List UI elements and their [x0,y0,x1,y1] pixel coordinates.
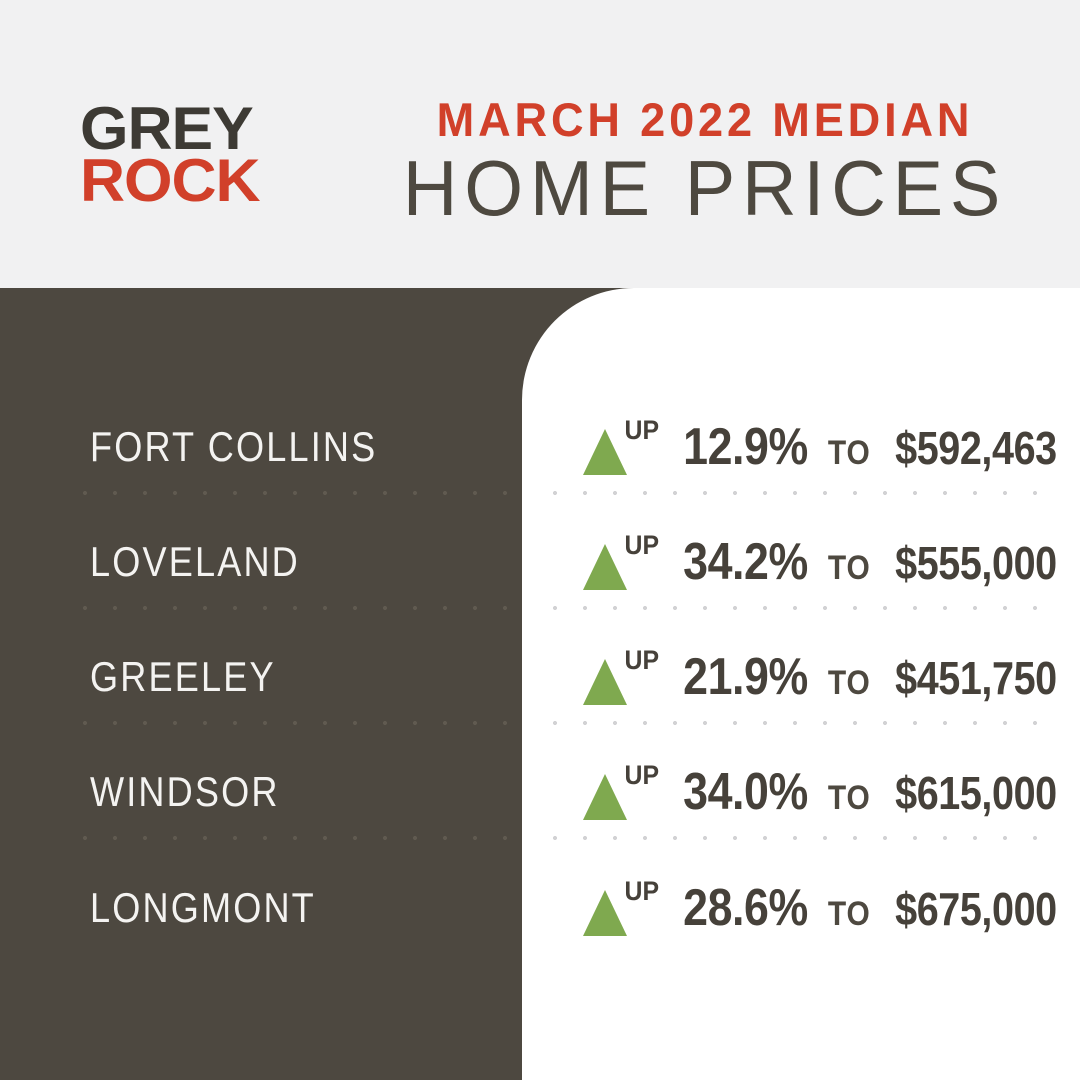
city-name: GREELEY [90,653,276,701]
to-label: TO [828,434,871,473]
row-separator-light-segment [540,490,1040,496]
list-item[interactable]: FORT COLLINS UP 12.9% TO $592,463 [0,389,1080,504]
city-name: FORT COLLINS [90,423,377,471]
list-item[interactable]: LONGMONT UP 28.6% TO $675,000 [0,850,1080,965]
list-item[interactable]: GREELEY UP 21.9% TO $451,750 [0,619,1080,734]
triangle-up-icon [583,890,627,936]
row-separator-light-segment [540,605,1040,611]
price-list: FORT COLLINS UP 12.9% TO $592,463 LOVELA… [0,288,1080,1080]
city-name: LOVELAND [90,538,300,586]
percent-change-value: 34.2% [683,532,808,592]
direction-label: UP [625,878,660,905]
header-banner: GREY ROCK MARCH 2022 MEDIAN HOME PRICES [0,0,1080,288]
page-title-eyebrow: MARCH 2022 MEDIAN [393,96,1017,143]
triangle-up-icon [583,774,627,820]
percent-change-value: 21.9% [683,647,808,707]
percent-change-value: 34.0% [683,762,808,822]
triangle-up-icon [583,544,627,590]
row-separator-dark-segment [70,835,522,841]
row-separator-dark-segment [70,605,522,611]
city-name: LONGMONT [90,884,316,932]
median-price-value: $592,463 [895,421,1057,475]
brand-logo-line-rock: ROCK [80,155,260,207]
row-separator-light-segment [540,835,1040,841]
median-price-value: $615,000 [895,766,1057,820]
to-label: TO [828,779,871,818]
percent-change-value: 28.6% [683,878,808,938]
median-price-value: $675,000 [895,882,1057,936]
triangle-up-icon [583,659,627,705]
to-label: TO [828,549,871,588]
city-stat-group: UP 34.2% TO $555,000 [583,532,1070,592]
list-item[interactable]: LOVELAND UP 34.2% TO $555,000 [0,504,1080,619]
city-stat-group: UP 12.9% TO $592,463 [583,417,1070,477]
percent-change-value: 12.9% [683,417,808,477]
row-separator-dark-segment [70,490,522,496]
city-stat-group: UP 34.0% TO $615,000 [583,762,1070,822]
row-separator [0,720,1080,726]
row-separator-dark-segment [70,720,522,726]
to-label: TO [828,664,871,703]
to-label: TO [828,895,871,934]
median-price-value: $451,750 [895,651,1057,705]
title-block: MARCH 2022 MEDIAN HOME PRICES [380,96,1030,229]
city-stat-group: UP 28.6% TO $675,000 [583,878,1070,938]
brand-logo: GREY ROCK [80,103,253,206]
direction-label: UP [625,647,660,674]
triangle-up-icon [583,429,627,475]
direction-label: UP [625,762,660,789]
city-name: WINDSOR [90,768,280,816]
page-title: HOME PRICES [390,149,1021,229]
median-price-value: $555,000 [895,536,1057,590]
direction-label: UP [625,532,660,559]
list-item[interactable]: WINDSOR UP 34.0% TO $615,000 [0,734,1080,849]
direction-label: UP [625,417,660,444]
row-separator [0,835,1080,841]
city-stat-group: UP 21.9% TO $451,750 [583,647,1070,707]
row-separator [0,490,1080,496]
row-separator [0,605,1080,611]
row-separator-light-segment [540,720,1040,726]
